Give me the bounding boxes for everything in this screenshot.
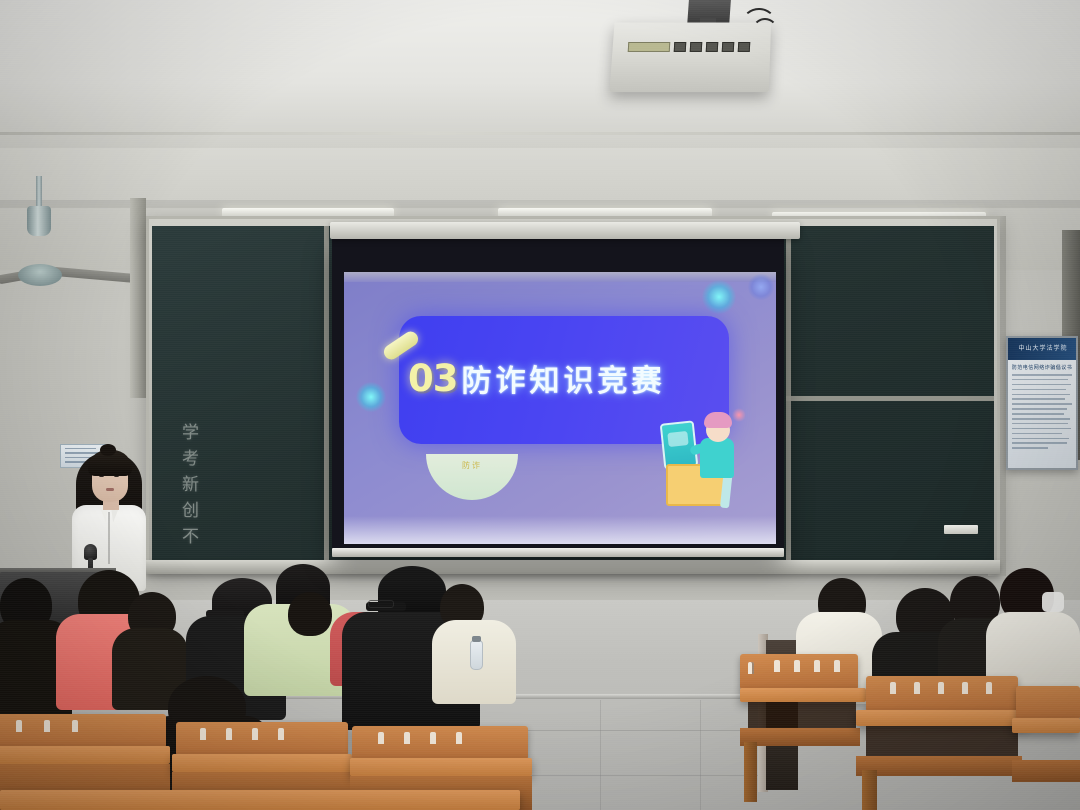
ceiling: [0, 0, 1080, 150]
desk-peg: [16, 720, 22, 732]
desk-leg: [862, 770, 877, 810]
water-bottle-cap: [472, 636, 481, 642]
projection-screen-weight-bar: [332, 548, 784, 557]
desk-peg: [378, 732, 384, 744]
desk-peg: [430, 732, 436, 744]
face-mask-icon: [1042, 592, 1064, 612]
poster-header-text: 中山大学法学院: [1014, 343, 1072, 352]
desk-peg: [456, 732, 462, 744]
desk-peg: [834, 660, 840, 672]
desk-front-panel: [740, 728, 860, 746]
desk-peg: [814, 660, 820, 672]
floor-tile-line: [600, 700, 601, 810]
projector-ports: [628, 40, 757, 54]
desk-peg: [794, 660, 800, 672]
illustration-sparkle-icon: [732, 408, 746, 422]
projection-screen[interactable]: 03 防诈知识竞赛 防诈: [344, 272, 776, 544]
bokeh-light-icon: [748, 274, 774, 300]
illustration-person-hair: [704, 412, 732, 428]
desk-peg: [72, 720, 78, 732]
blackboard-panel-divider: [786, 226, 791, 564]
ceiling-seam: [0, 132, 1080, 135]
ceiling-fan-icon: [18, 264, 62, 286]
projector-port: [738, 42, 751, 52]
desk-surface: [740, 688, 866, 702]
wall-band: [0, 200, 1080, 208]
projector-port: [706, 42, 719, 52]
desk-surface: [172, 754, 352, 772]
bokeh-light-icon: [356, 382, 386, 412]
left-door-frame: [130, 198, 146, 398]
presenter-shirt-placket: [108, 512, 110, 564]
desk-front-panel: [1012, 760, 1080, 782]
projection-screen-roller[interactable]: [330, 222, 800, 239]
audience-person-head: [288, 592, 332, 636]
water-bottle-icon: [470, 640, 483, 670]
poster-title-text: 防范电信网络诈骗倡议书: [1008, 364, 1076, 371]
desk-surface: [1012, 718, 1080, 733]
desk-peg: [938, 682, 944, 694]
desk-peg: [226, 728, 232, 740]
blackboard-panel-divider: [786, 396, 994, 401]
illustration-monitor-glare: [667, 431, 688, 447]
desk-peg: [962, 682, 968, 694]
projector-port: [674, 42, 687, 52]
desk-peg: [986, 682, 992, 694]
blackboard-chalk-tray: [146, 560, 1000, 574]
floor-tile-line: [700, 700, 701, 810]
desk-peg: [774, 660, 780, 672]
desk-understorage: [866, 726, 1018, 756]
slide-section-number: 03: [408, 357, 458, 400]
desk-peg: [200, 728, 206, 740]
desk-front-panel: [856, 756, 1022, 776]
desk-peg: [44, 720, 50, 732]
projector-port: [722, 42, 735, 52]
blackboard-eraser[interactable]: [944, 525, 978, 534]
eyeglasses-icon: [368, 600, 394, 608]
presenter-mouth: [106, 488, 114, 491]
bokeh-light-icon: [702, 280, 736, 314]
desk-backrest: [0, 714, 166, 748]
slide-title-text: 防诈知识竞赛: [462, 356, 666, 400]
desk-surface: [350, 758, 532, 776]
desk-peg: [252, 728, 258, 740]
poster-body-lines: [1012, 374, 1072, 452]
desk-peg: [278, 728, 284, 740]
desk-surface: [0, 746, 170, 764]
projector-cable: [752, 18, 778, 44]
projector-port: [690, 42, 703, 52]
desk-surface: [856, 710, 1028, 726]
blackboard-panel-divider: [324, 226, 329, 564]
ceiling-fan-motor: [27, 206, 51, 236]
projector-label: [628, 42, 671, 52]
desk-peg: [890, 682, 896, 694]
slide-semicircle-text: 防诈: [440, 460, 504, 471]
classroom-scene: 学 考 新 创 不 BOARD 03 防诈知识竞赛 防诈: [0, 0, 1080, 810]
desk-leg: [744, 742, 757, 802]
desk-backrest: [1016, 686, 1080, 720]
presenter-hair-bun: [100, 444, 116, 456]
desk-peg: [914, 682, 920, 694]
desk-understorage: [748, 702, 856, 728]
desk-slats: [748, 662, 754, 674]
desk-surface: [0, 790, 520, 810]
desk-peg: [404, 732, 410, 744]
slide-title-row: 03 防诈知识竞赛: [408, 356, 708, 400]
